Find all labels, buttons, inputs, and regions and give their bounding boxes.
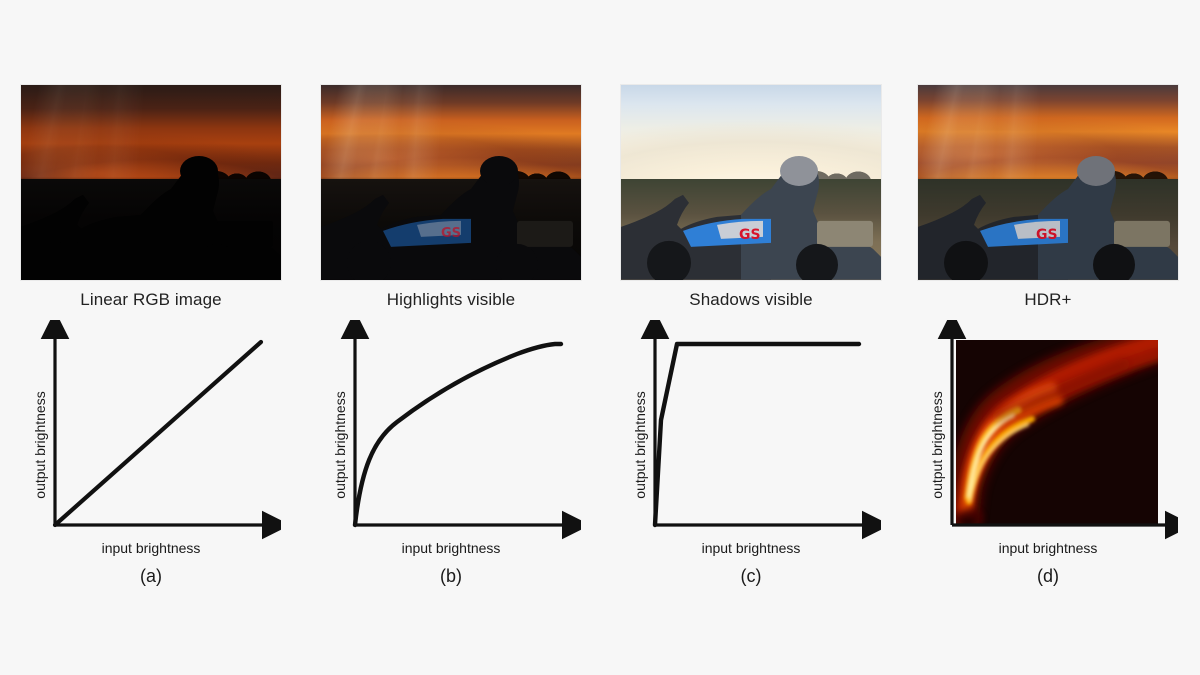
figure-root: Linear RGB image input brightness output… (0, 0, 1200, 675)
motorcycle-rider-silhouette: GS (621, 155, 881, 280)
motorcycle-rider-silhouette: GS (321, 155, 581, 280)
panel-caption: Linear RGB image (21, 290, 281, 310)
panel-hdrplus: GS HDR+ (918, 85, 1178, 587)
heatmap-canvas (956, 340, 1158, 528)
photo-shadows: GS (621, 85, 881, 280)
motorcycle-rider-silhouette: GS (918, 155, 1178, 280)
photo-linear (21, 85, 281, 280)
plot-shadows: input brightness output brightness (621, 320, 881, 570)
panel-linear: Linear RGB image input brightness output… (21, 85, 281, 587)
panel-caption: Shadows visible (621, 290, 881, 310)
svg-text:GS: GS (739, 227, 761, 243)
photo-hdrplus: GS (918, 85, 1178, 280)
plot-highlights: input brightness output brightness (321, 320, 581, 570)
panel-highlights: GS Highlights visible input bright (321, 85, 581, 587)
plot-linear: input brightness output brightness (21, 320, 281, 570)
svg-text:GS: GS (441, 226, 461, 241)
motorcycle-rider-silhouette (21, 155, 281, 280)
photo-highlights: GS (321, 85, 581, 280)
plot-hdrplus: input brightness output brightness (918, 320, 1178, 570)
panel-caption: Highlights visible (321, 290, 581, 310)
panel-shadows: GS Shadows visible input brightnes (621, 85, 881, 587)
panel-caption: HDR+ (918, 290, 1178, 310)
svg-text:GS: GS (1036, 227, 1058, 243)
